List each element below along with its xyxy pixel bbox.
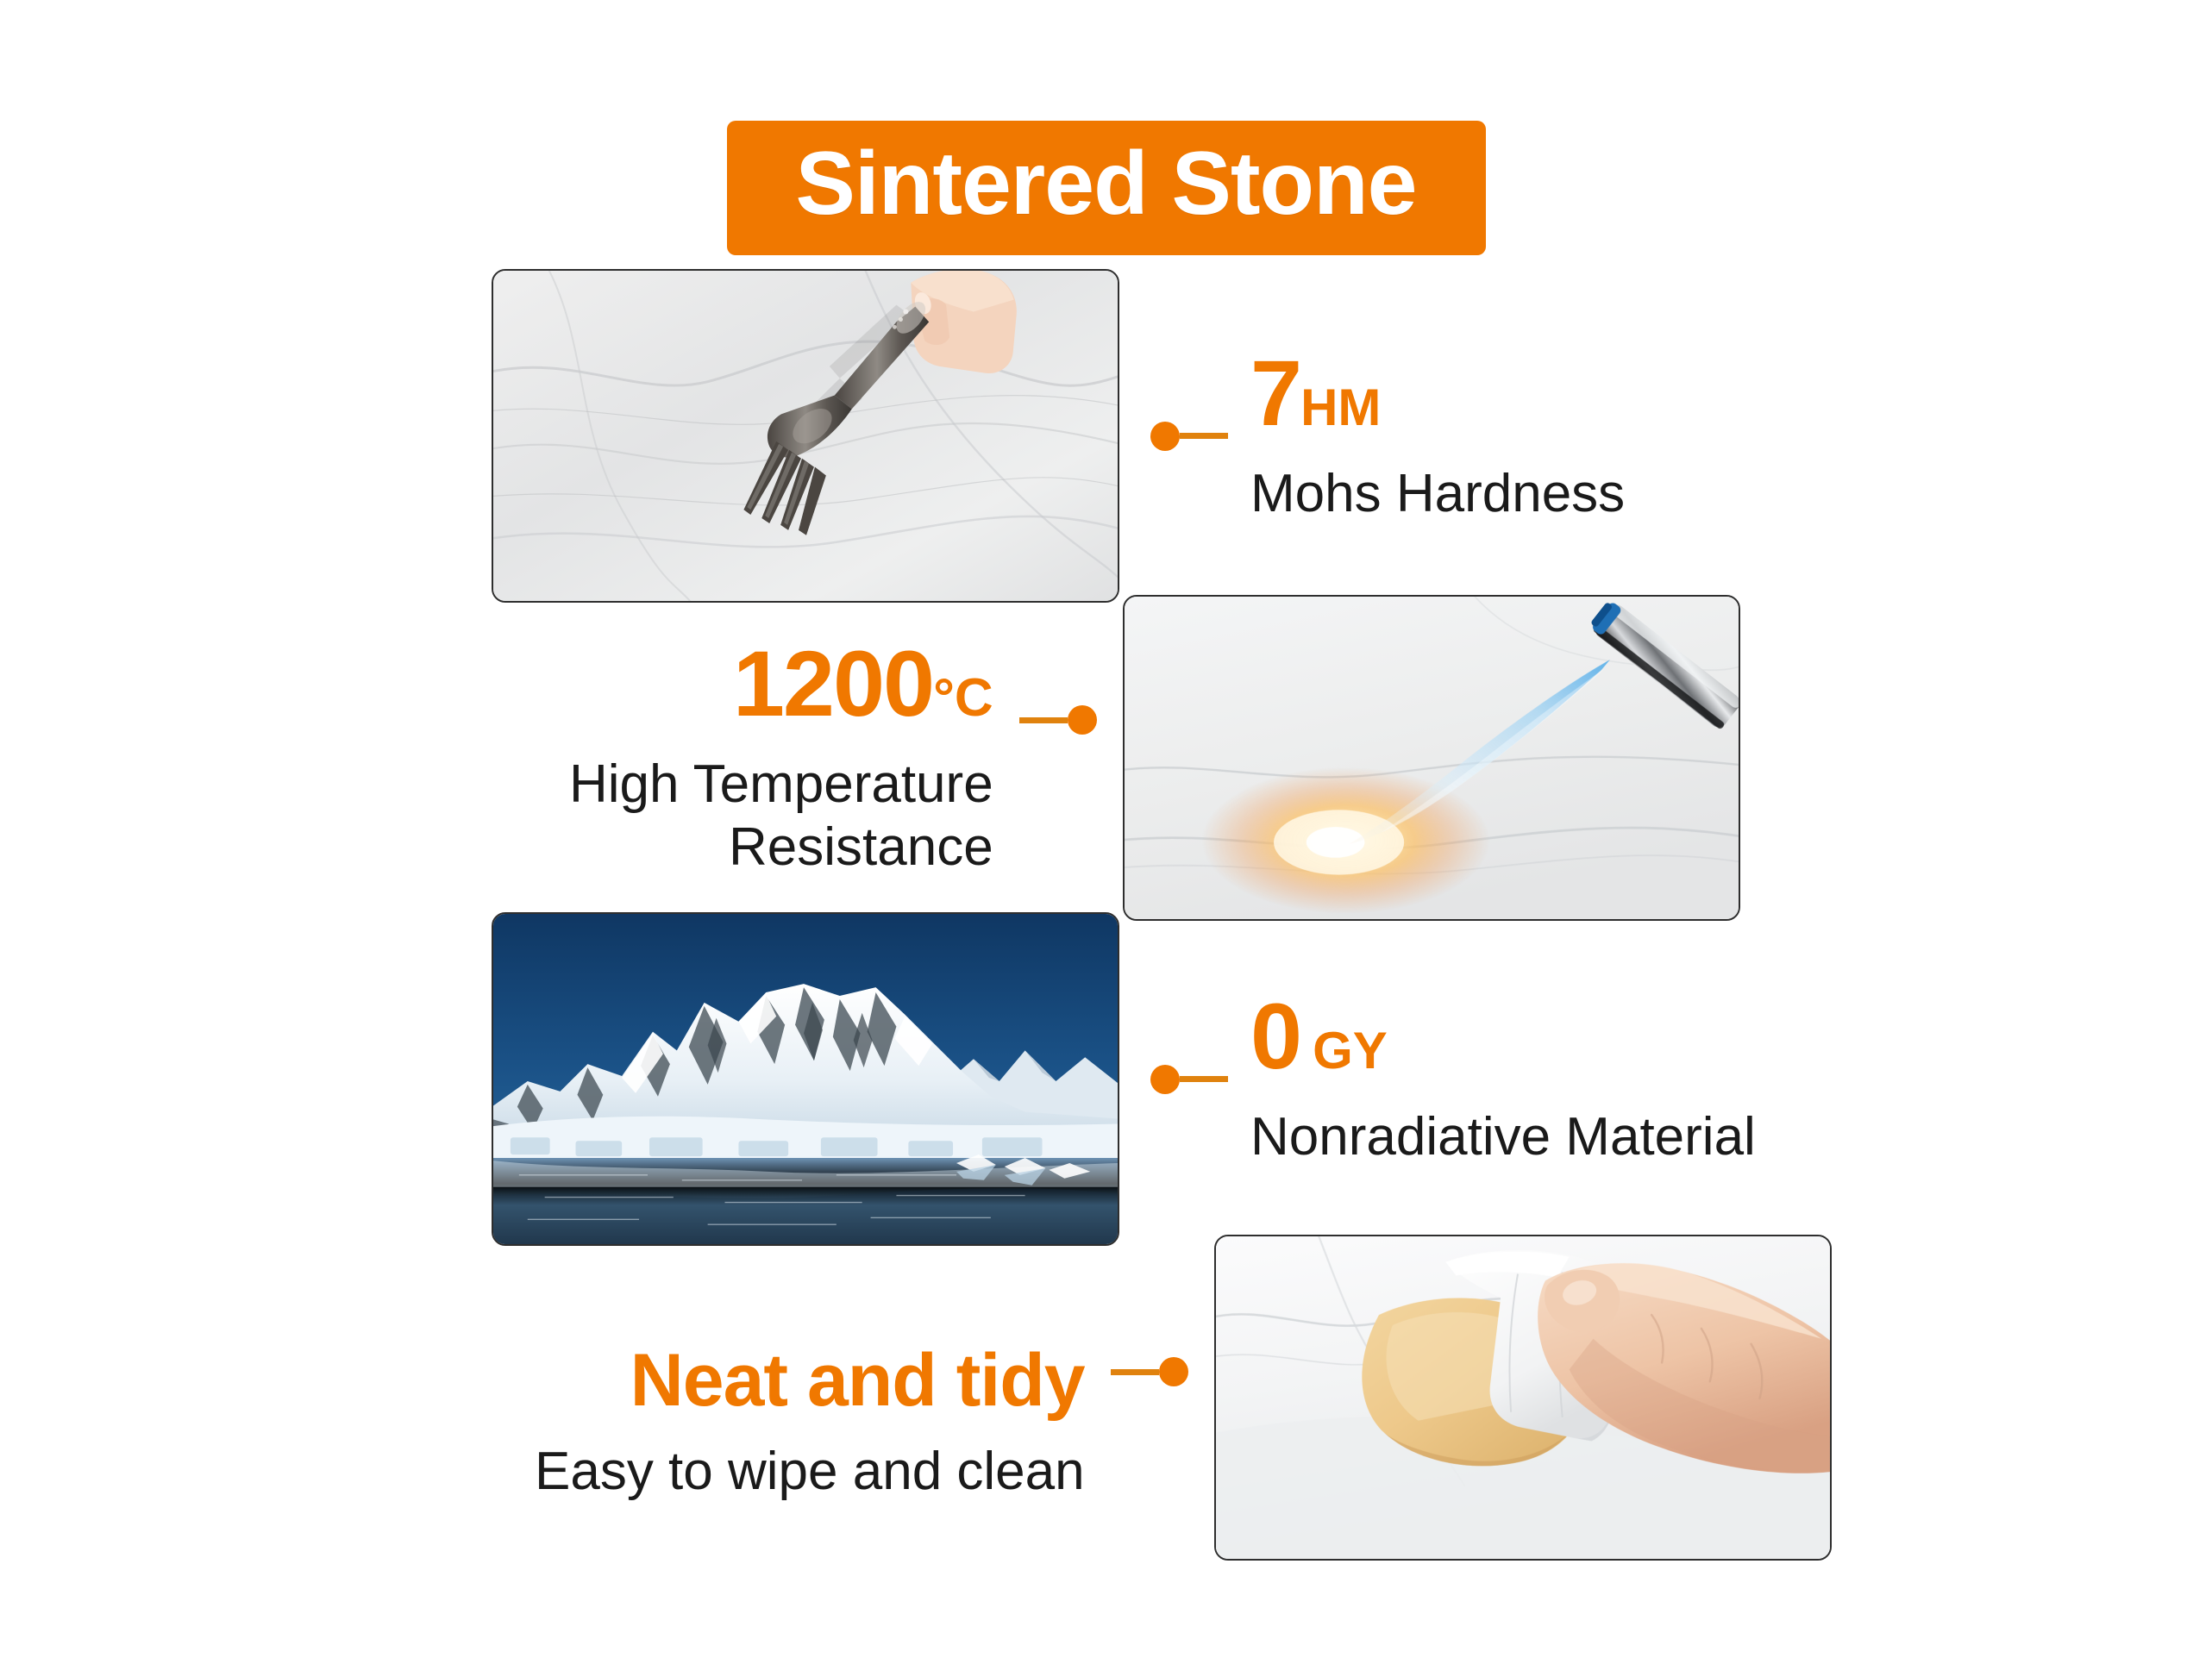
connector-line-icon [1111, 1369, 1159, 1375]
feature-text-high-temperature-resistance: 1200°C High Temperature Resistance [569, 637, 993, 879]
connector-dot-icon [1159, 1357, 1188, 1386]
connector-nonradiative-material [1150, 1065, 1228, 1094]
title-banner-wrapper: Sintered Stone [0, 121, 2212, 255]
feature-text-mohs-hardness: 7HM Mohs Hardness [1250, 347, 1625, 525]
feature-description-nonradiative-material: Nonradiative Material [1250, 1105, 1756, 1168]
connector-line-icon [1019, 717, 1068, 723]
feature-row-mohs-hardness: 7HM Mohs Hardness [492, 269, 1625, 603]
blowtorch-flame-on-marble-photo [1123, 595, 1740, 921]
feature-description-neat-and-tidy: Easy to wipe and clean [535, 1440, 1085, 1503]
page-title: Sintered Stone [787, 133, 1426, 236]
feature-description-high-temperature-resistance: High Temperature Resistance [569, 753, 993, 879]
stat-value-mohs-hardness: 7HM [1250, 347, 1625, 440]
connector-line-icon [1180, 433, 1228, 439]
connector-mohs-hardness [1150, 422, 1228, 451]
connector-high-temperature-resistance [1019, 705, 1097, 735]
connector-dot-icon [1068, 705, 1097, 735]
connector-dot-icon [1150, 422, 1180, 451]
title-banner: Sintered Stone [727, 121, 1486, 255]
antarctic-glacier-photo [492, 912, 1119, 1246]
feature-row-nonradiative-material: 0GY Nonradiative Material [492, 912, 1756, 1246]
feature-description-mohs-hardness: Mohs Hardness [1250, 462, 1625, 525]
fork-on-marble-photo [492, 269, 1119, 603]
stat-value-neat-and-tidy: Neat and tidy [535, 1343, 1085, 1417]
stat-value-high-temperature-resistance: 1200°C [569, 637, 993, 730]
feature-row-neat-and-tidy: Neat and tidy Easy to wipe and clean [535, 1235, 1832, 1561]
degree-celsius-unit: °C [933, 668, 993, 728]
feature-row-high-temperature-resistance: 1200°C High Temperature Resistance [569, 595, 1740, 921]
feature-text-nonradiative-material: 0GY Nonradiative Material [1250, 990, 1756, 1168]
hand-wiping-stain-photo [1214, 1235, 1832, 1561]
stat-value-nonradiative-material: 0GY [1250, 990, 1756, 1083]
connector-dot-icon [1150, 1065, 1180, 1094]
infographic-canvas: Sintered Stone [0, 0, 2212, 1658]
connector-neat-and-tidy [1111, 1357, 1188, 1386]
connector-line-icon [1180, 1076, 1228, 1082]
feature-text-neat-and-tidy: Neat and tidy Easy to wipe and clean [535, 1343, 1085, 1503]
